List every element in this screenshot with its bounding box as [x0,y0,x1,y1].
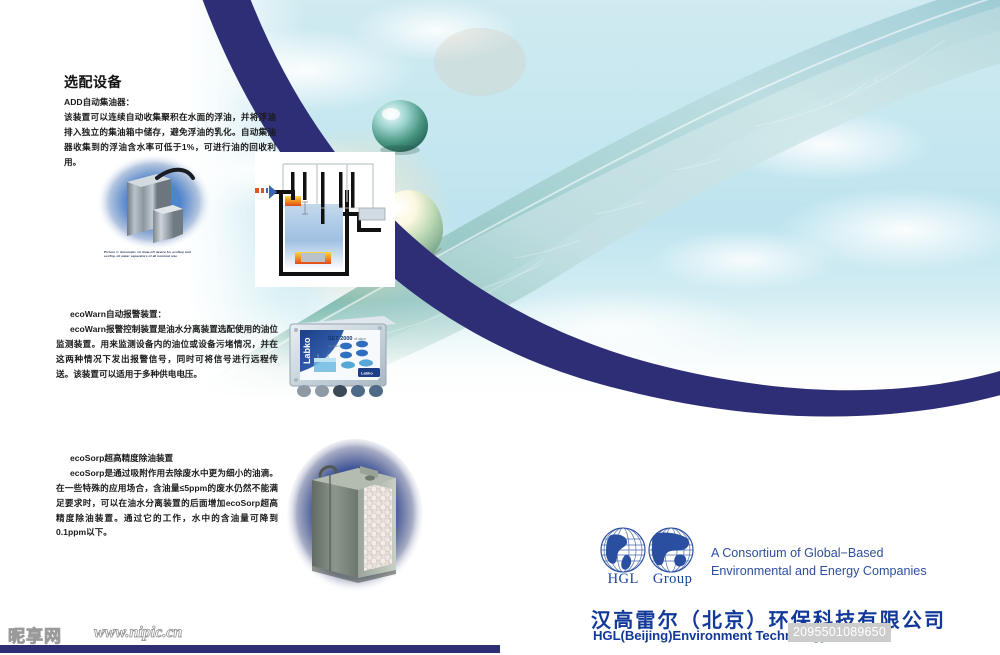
separator-schematic-icon [255,152,395,287]
photo-add-caption: Picture 1: Automatic oil draw-off device… [104,250,200,259]
watermark-nipic: 昵享网 www.nipic.cn [8,620,248,648]
photo-ecowarn-controller: Labko SET 2000 oil alarm ecoWarn [284,302,402,404]
svg-text:oil alarm: oil alarm [354,337,366,341]
ecowarn-title: ecoWarn自动报警装置： [56,308,278,321]
photo-ecosorp-cartridge [286,438,424,596]
page-title: 选配设备 [64,72,122,92]
logo-group: Group [653,571,693,588]
svg-text:SET 2000: SET 2000 [328,336,352,342]
section-ecosorp: ecoSorp超高精度除油装置 ecoSorp是通过吸附作用去除废水中更为细小的… [56,452,278,540]
logo-wordmark: HGLGroup [594,571,706,588]
svg-text:Labko: Labko [361,371,373,376]
ecosorp-title: ecoSorp超高精度除油装置 [56,452,278,465]
section-ecowarn: ecoWarn自动报警装置： ecoWarn报警控制装置是油水分离装置选配使用的… [56,308,278,381]
watermark-logo-cn: 昵享网 [8,622,62,647]
brochure-page: 选配设备 ADD自动集油器： 该装置可以连续自动收集聚积在水面的浮油，并将浮油排… [0,0,1000,655]
watermark-url: www.nipic.cn [94,624,182,642]
ecosorp-body: ecoSorp是通过吸附作用去除废水中更为细小的油滴。在一些特殊的应用场合，含油… [56,466,278,540]
left-text-column: 选配设备 ADD自动集油器： 该装置可以连续自动收集聚积在水面的浮油，并将浮油排… [0,0,300,655]
svg-text:Labko: Labko [302,337,312,364]
watermark-image-id: 2095501089650 [788,623,891,642]
svg-text:ecoWarn: ecoWarn [328,344,340,348]
logo-hgl: HGL [608,571,639,588]
add-title: ADD自动集油器： [64,96,276,109]
company-tagline: A Consortium of Global−Based Environment… [711,544,927,581]
photo-add-skimmer [95,152,213,252]
ecowarn-body: ecoWarn报警控制装置是油水分离装置选配使用的油位监测装置。用来监测设备内的… [56,322,278,381]
